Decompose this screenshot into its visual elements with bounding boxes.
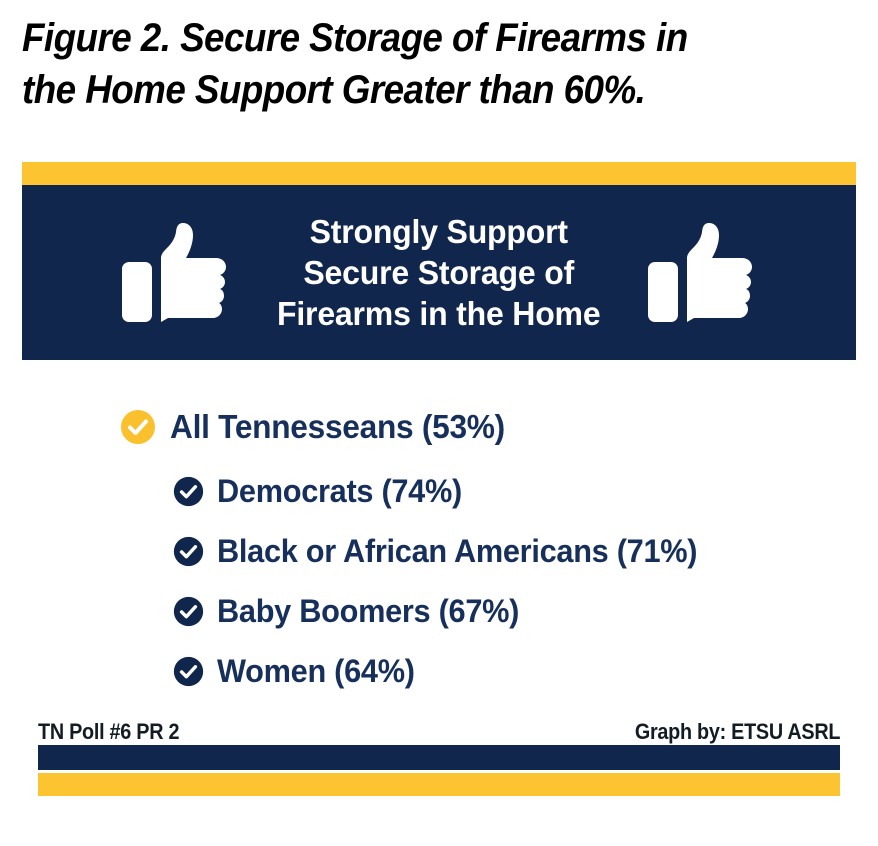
header-gold-rule: [22, 162, 856, 185]
list-item-label: Democrats (74%): [217, 473, 462, 510]
thumbs-up-icon: [646, 218, 758, 328]
list-item: All Tennesseans (53%): [22, 393, 856, 461]
poll-source-label: TN Poll #6 PR 2: [38, 719, 179, 745]
check-circle-icon: [173, 656, 204, 687]
footer-gold-bar: [38, 773, 840, 796]
header-title: Strongly Support Secure Storage of Firea…: [277, 211, 600, 334]
figure-caption: Figure 2. Secure Storage of Firearms in …: [22, 12, 800, 116]
check-circle-icon: [173, 536, 204, 567]
list-item-label: Black or African Americans (71%): [217, 533, 697, 570]
footer-credits: TN Poll #6 PR 2 Graph by: ETSU ASRL: [38, 719, 840, 745]
support-breakdown-list: All Tennesseans (53%) Democrats (74%) Bl…: [22, 393, 856, 701]
thumbs-up-icon: [120, 218, 232, 328]
infographic-panel: Strongly Support Secure Storage of Firea…: [22, 162, 856, 820]
list-item: Women (64%): [22, 641, 856, 701]
list-item-label: All Tennesseans (53%): [170, 408, 505, 446]
list-item-label: Baby Boomers (67%): [217, 593, 519, 630]
graph-credit-label: Graph by: ETSU ASRL: [635, 719, 840, 745]
footer-navy-bar: [38, 745, 840, 770]
list-item: Baby Boomers (67%): [22, 581, 856, 641]
list-item-label: Women (64%): [217, 653, 415, 690]
check-circle-icon: [173, 596, 204, 627]
list-item: Democrats (74%): [22, 461, 856, 521]
infographic-header: Strongly Support Secure Storage of Firea…: [22, 185, 856, 360]
list-item: Black or African Americans (71%): [22, 521, 856, 581]
check-circle-icon: [120, 409, 156, 445]
check-circle-icon: [173, 476, 204, 507]
